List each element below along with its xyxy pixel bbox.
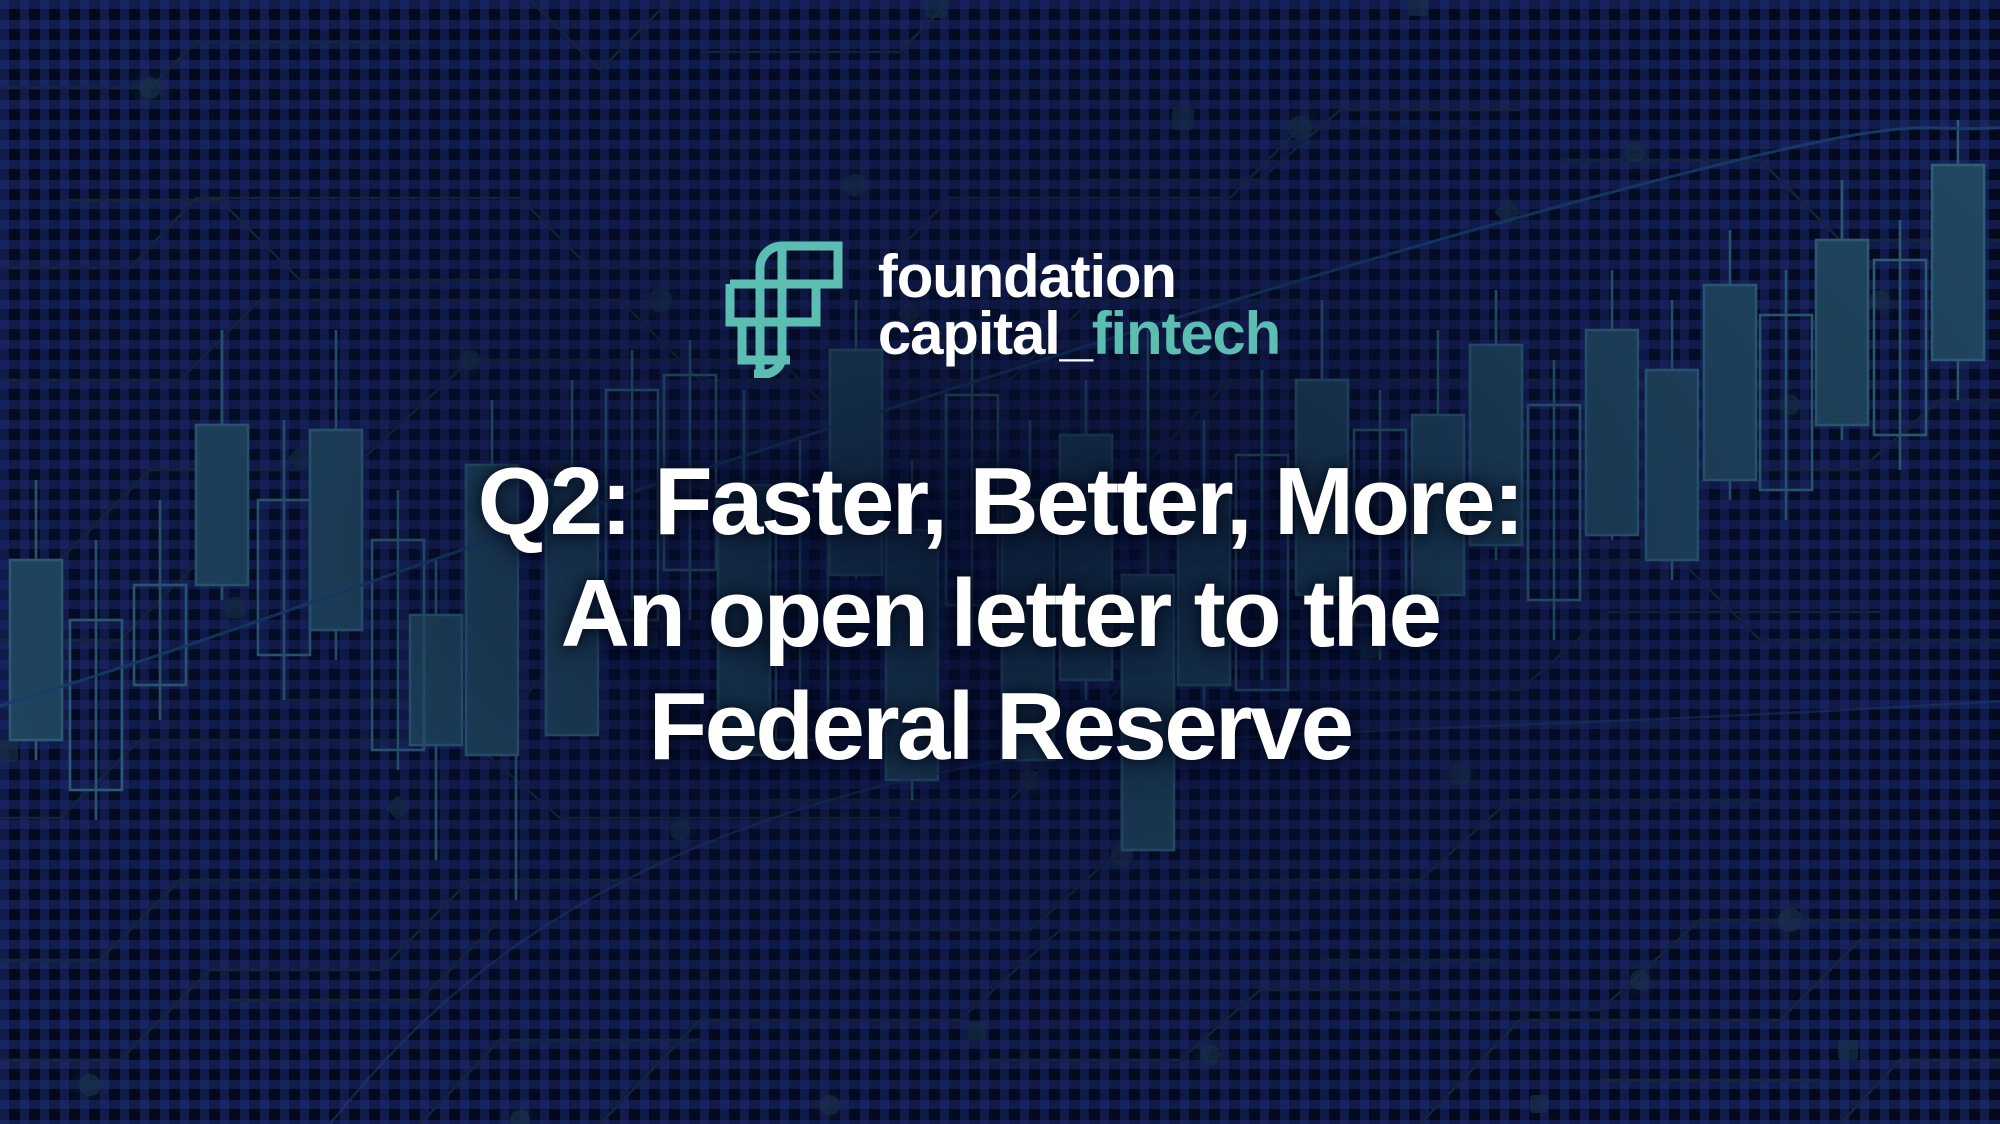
brand-wordmark: foundation capital_fintech	[878, 248, 1280, 362]
brand-line-foundation: foundation	[878, 248, 1280, 305]
headline-line-2: An open letter to the	[478, 558, 1523, 670]
slide-content: foundation capital_fintech Q2: Faster, B…	[0, 0, 2000, 1124]
brand-capital-text: capital_	[878, 300, 1092, 367]
headline-line-1: Q2: Faster, Better, More:	[478, 446, 1523, 558]
brand-fintech-text: fintech	[1092, 300, 1280, 367]
brand-lockup[interactable]: foundation capital_fintech	[720, 232, 1280, 378]
cover-slide: foundation capital_fintech Q2: Faster, B…	[0, 0, 2000, 1124]
brand-line-capital-fintech: capital_fintech	[878, 305, 1280, 362]
headline-line-3: Federal Reserve	[478, 671, 1523, 783]
foundation-capital-f-monogram-icon	[720, 232, 852, 378]
page-title: Q2: Faster, Better, More: An open letter…	[478, 446, 1523, 783]
